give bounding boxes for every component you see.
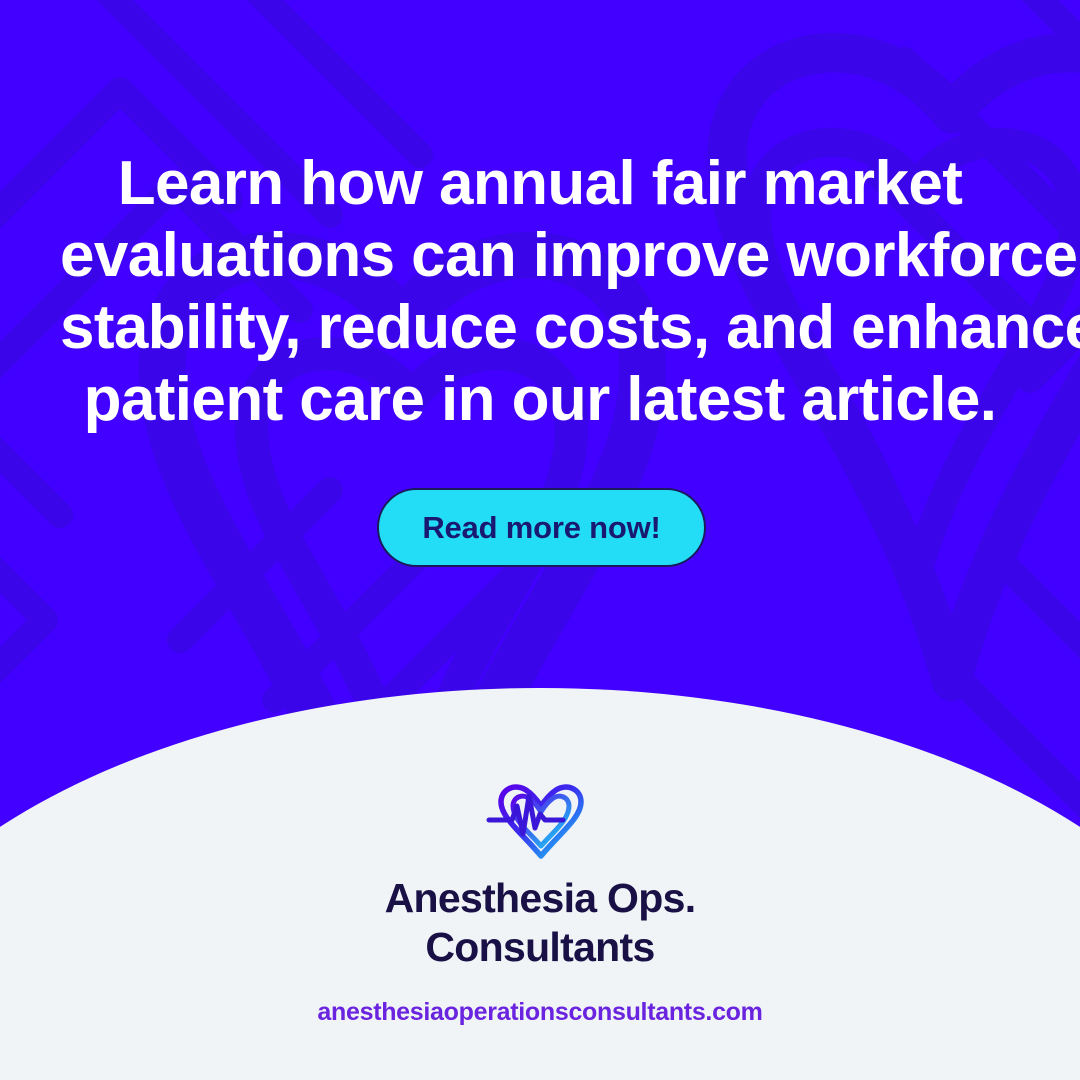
headline-line-2: evaluations can improve workforce — [60, 220, 1020, 292]
read-more-button[interactable]: Read more now! — [377, 488, 706, 567]
headline-line-4: patient care in our latest article. — [60, 364, 1020, 436]
headline-line-1: Learn how annual fair market — [60, 148, 1020, 220]
pattern-chevrons-left — [0, 400, 60, 715]
website-url[interactable]: anesthesiaoperationsconsultants.com — [317, 998, 762, 1027]
social-media-poster: Learn how annual fair market evaluations… — [0, 0, 1080, 1080]
headline-line-3: stability, reduce costs, and enhance — [60, 292, 1020, 364]
heart-pulse-icon — [479, 778, 601, 860]
brand-name-line-1: Anesthesia Ops. — [385, 874, 696, 923]
headline: Learn how annual fair market evaluations… — [0, 148, 1080, 436]
brand-name: Anesthesia Ops. Consultants — [385, 874, 696, 972]
brand-name-line-2: Consultants — [385, 923, 696, 972]
footer-brand-block: Anesthesia Ops. Consultants anesthesiaop… — [0, 778, 1080, 1027]
